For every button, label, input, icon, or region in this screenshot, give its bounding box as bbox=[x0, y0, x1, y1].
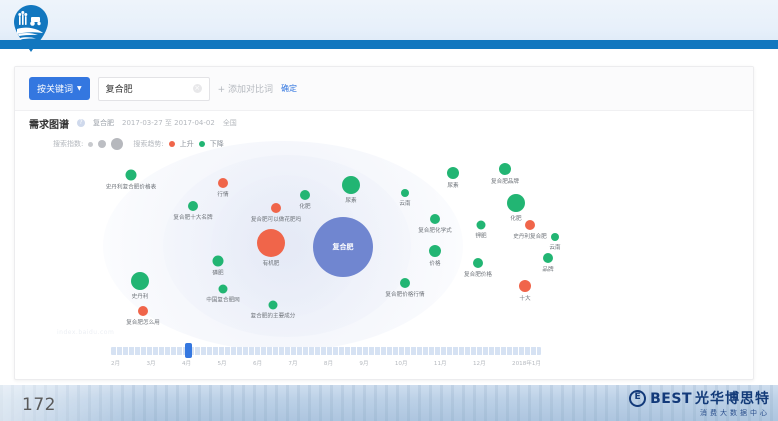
bubble-node[interactable]: 复合肥十大名牌 bbox=[188, 201, 198, 211]
meta-keyword: 复合肥 bbox=[93, 118, 114, 128]
bubble-label: 复合肥怎么用 bbox=[126, 318, 160, 326]
meta-date-range: 2017-03-27 至 2017-04-02 bbox=[122, 118, 215, 128]
bubble-node[interactable]: 尿素 bbox=[342, 176, 360, 194]
section-header: 需求图谱 ? 复合肥 2017-03-27 至 2017-04-02 全国 bbox=[15, 111, 753, 135]
bubble-node[interactable]: 复合肥价格 bbox=[473, 258, 483, 268]
bubble-label: 有机肥 bbox=[263, 259, 280, 267]
bubble-label: 史丹利复合肥价格表 bbox=[106, 183, 156, 191]
bubble-label: 磷肥 bbox=[212, 269, 223, 277]
bubble-node[interactable]: 复合肥化学式 bbox=[430, 214, 440, 224]
timeline-tick: 12月 bbox=[473, 359, 486, 371]
keyword-mode-select[interactable]: 按关键词 ▼ bbox=[29, 77, 90, 100]
bubble-circle bbox=[213, 256, 224, 267]
bubble-circle bbox=[269, 301, 278, 310]
legend-down-icon bbox=[199, 141, 205, 147]
bubble-circle bbox=[551, 233, 559, 241]
timeline-slider[interactable]: 2月3月4月5月6月7月8月9月10月11月12月2018年1月 bbox=[111, 343, 541, 373]
legend-size-large-icon bbox=[111, 138, 123, 150]
bubble-node[interactable]: 中国复合肥网 bbox=[219, 285, 228, 294]
bubble-circle bbox=[131, 272, 149, 290]
chart-legend: 搜索指数: 搜索趋势: 上升 下降 bbox=[15, 135, 753, 153]
bubble-label: 云南 bbox=[549, 243, 560, 251]
bubble-circle bbox=[430, 214, 440, 224]
page-title: 需求图谱 bbox=[29, 116, 69, 131]
legend-size-group: 搜索指数: bbox=[53, 138, 123, 150]
bubble-node[interactable]: 十大 bbox=[519, 280, 531, 292]
brand-mark-icon: E bbox=[629, 390, 646, 407]
bubble-circle bbox=[429, 245, 441, 257]
bubble-label: 史丹利 bbox=[132, 292, 149, 300]
legend-trend-group: 搜索趋势: 上升 下降 bbox=[133, 139, 223, 149]
header-blue-bar bbox=[0, 40, 778, 49]
bubble-circle bbox=[447, 167, 459, 179]
bubble-node[interactable]: 史丹利 bbox=[131, 272, 149, 290]
add-compare-keyword-button[interactable]: + 添加对比词 bbox=[218, 82, 273, 95]
bubble-label: 十大 bbox=[519, 294, 530, 302]
bubble-node[interactable]: 复合肥的主要成分 bbox=[269, 301, 278, 310]
timeline-tick: 2018年1月 bbox=[512, 359, 541, 371]
timeline-tick: 9月 bbox=[359, 359, 368, 371]
legend-up-icon bbox=[169, 141, 175, 147]
bubble-label: 尿素 bbox=[447, 181, 458, 189]
bubble-circle bbox=[218, 178, 228, 188]
timeline-tick: 7月 bbox=[288, 359, 297, 371]
bubble-circle bbox=[300, 190, 310, 200]
bubble-circle bbox=[400, 278, 410, 288]
bubble-node[interactable]: 史丹利复合肥 bbox=[525, 220, 535, 230]
bubble-node[interactable]: 复合肥怎么用 bbox=[138, 306, 148, 316]
bubble-label: 复合肥的主要成分 bbox=[251, 312, 296, 320]
bubble-node[interactable]: 复合肥品牌 bbox=[499, 163, 511, 175]
bubble-node[interactable]: 品牌 bbox=[543, 253, 553, 263]
bubble-circle bbox=[473, 258, 483, 268]
legend-up-label: 上升 bbox=[180, 139, 194, 149]
bubble-node-center[interactable]: 复合肥 bbox=[313, 217, 373, 277]
bubble-label: 云南 bbox=[399, 199, 410, 207]
bubble-circle bbox=[477, 221, 486, 230]
timeline-tick: 8月 bbox=[324, 359, 333, 371]
watermark-text: index.baidu.com bbox=[57, 329, 114, 336]
bubble-circle bbox=[188, 201, 198, 211]
keyword-input[interactable]: 复合肥 × bbox=[98, 77, 210, 101]
bubble-node[interactable]: 行情 bbox=[218, 178, 228, 188]
bubble-node[interactable]: 钾肥 bbox=[477, 221, 486, 230]
slide-canvas: 按关键词 ▼ 复合肥 × + 添加对比词 确定 需求图谱 ? 复合肥 2017-… bbox=[0, 0, 778, 421]
bubble-node[interactable]: 云南 bbox=[551, 233, 559, 241]
bubble-circle bbox=[507, 194, 525, 212]
page-number: 172 bbox=[22, 395, 56, 415]
bubble-label: 尿素 bbox=[345, 196, 356, 204]
chevron-down-icon: ▼ bbox=[77, 86, 82, 92]
brand-name-en: BEST bbox=[650, 392, 692, 406]
bubble-circle bbox=[519, 280, 531, 292]
bubble-node[interactable]: 尿素 bbox=[447, 167, 459, 179]
bubble-label: 复合肥品牌 bbox=[491, 177, 519, 185]
bubble-label: 复合肥价格行情 bbox=[385, 290, 424, 298]
search-toolbar: 按关键词 ▼ 复合肥 × + 添加对比词 确定 bbox=[15, 67, 753, 111]
agri-pin-logo-icon bbox=[10, 4, 52, 52]
brand-name-cn: 光华博思特 bbox=[695, 392, 770, 406]
timeline-tick: 6月 bbox=[253, 359, 262, 371]
bubble-label: 价格 bbox=[429, 259, 440, 267]
bubble-label: 复合肥十大名牌 bbox=[173, 213, 212, 221]
keyword-mode-label: 按关键词 bbox=[37, 82, 73, 95]
bubble-node[interactable]: 化肥 bbox=[507, 194, 525, 212]
bubble-label: 品牌 bbox=[542, 265, 553, 273]
timeline-handle[interactable] bbox=[185, 343, 192, 358]
brand-logo: E BEST 光华博思特 消费大数据中心 bbox=[629, 390, 770, 417]
legend-size-label: 搜索指数: bbox=[53, 139, 83, 149]
timeline-tick: 2月 bbox=[111, 359, 120, 371]
bubble-label: 钾肥 bbox=[475, 232, 486, 240]
bubble-node[interactable]: 磷肥 bbox=[213, 256, 224, 267]
bubble-circle bbox=[138, 306, 148, 316]
legend-trend-label: 搜索趋势: bbox=[133, 139, 163, 149]
bubble-label: 复合肥 bbox=[333, 242, 354, 252]
demand-graph-bubble-chart: 复合肥史丹利复合肥价格表行情复合肥十大名牌化肥尿素云南尿素复合肥品牌化肥复合肥化… bbox=[43, 153, 729, 338]
bubble-circle bbox=[499, 163, 511, 175]
timeline-tick: 3月 bbox=[146, 359, 155, 371]
bubble-circle bbox=[401, 189, 409, 197]
bubble-node[interactable]: 复合肥可以做花肥吗 bbox=[271, 203, 281, 213]
bubble-circle bbox=[271, 203, 281, 213]
timeline-tick: 10月 bbox=[395, 359, 408, 371]
bubble-node[interactable]: 价格 bbox=[429, 245, 441, 257]
brand-main-row: E BEST 光华博思特 bbox=[629, 390, 770, 407]
bubble-label: 中国复合肥网 bbox=[206, 296, 240, 304]
legend-size-small-icon bbox=[88, 142, 93, 147]
bubble-circle bbox=[126, 170, 137, 181]
keyword-value: 复合肥 bbox=[106, 82, 133, 95]
bubble-node[interactable]: 化肥 bbox=[300, 190, 310, 200]
bubble-label: 行情 bbox=[217, 190, 228, 198]
brand-subtitle: 消费大数据中心 bbox=[700, 410, 770, 417]
baidu-index-demand-graph-card: 按关键词 ▼ 复合肥 × + 添加对比词 确定 需求图谱 ? 复合肥 2017-… bbox=[14, 66, 754, 380]
info-icon[interactable]: ? bbox=[77, 119, 85, 127]
confirm-button[interactable]: 确定 bbox=[281, 83, 297, 94]
bubble-label: 化肥 bbox=[510, 214, 521, 222]
bubble-circle bbox=[525, 220, 535, 230]
meta-region: 全国 bbox=[223, 118, 237, 128]
timeline-tick: 5月 bbox=[217, 359, 226, 371]
timeline-tick: 11月 bbox=[434, 359, 447, 371]
bubble-node[interactable]: 复合肥价格行情 bbox=[400, 278, 410, 288]
bubble-label: 化肥 bbox=[299, 202, 310, 210]
timeline-tick: 4月 bbox=[182, 359, 191, 371]
bubble-node[interactable]: 史丹利复合肥价格表 bbox=[126, 170, 137, 181]
bubble-node[interactable]: 云南 bbox=[401, 189, 409, 197]
timeline-track[interactable] bbox=[111, 347, 541, 355]
bubble-label: 复合肥价格 bbox=[464, 270, 492, 278]
bubble-label: 复合肥化学式 bbox=[418, 226, 452, 234]
bubble-label: 史丹利复合肥 bbox=[513, 232, 547, 240]
clear-icon[interactable]: × bbox=[193, 84, 202, 93]
bubble-circle bbox=[257, 229, 285, 257]
bubble-node[interactable]: 有机肥 bbox=[257, 229, 285, 257]
bubble-label: 复合肥可以做花肥吗 bbox=[251, 215, 301, 223]
timeline-tick-labels: 2月3月4月5月6月7月8月9月10月11月12月2018年1月 bbox=[111, 359, 541, 371]
bubble-circle bbox=[219, 285, 228, 294]
bubble-circle bbox=[342, 176, 360, 194]
legend-size-medium-icon bbox=[98, 140, 106, 148]
bubble-circle bbox=[543, 253, 553, 263]
